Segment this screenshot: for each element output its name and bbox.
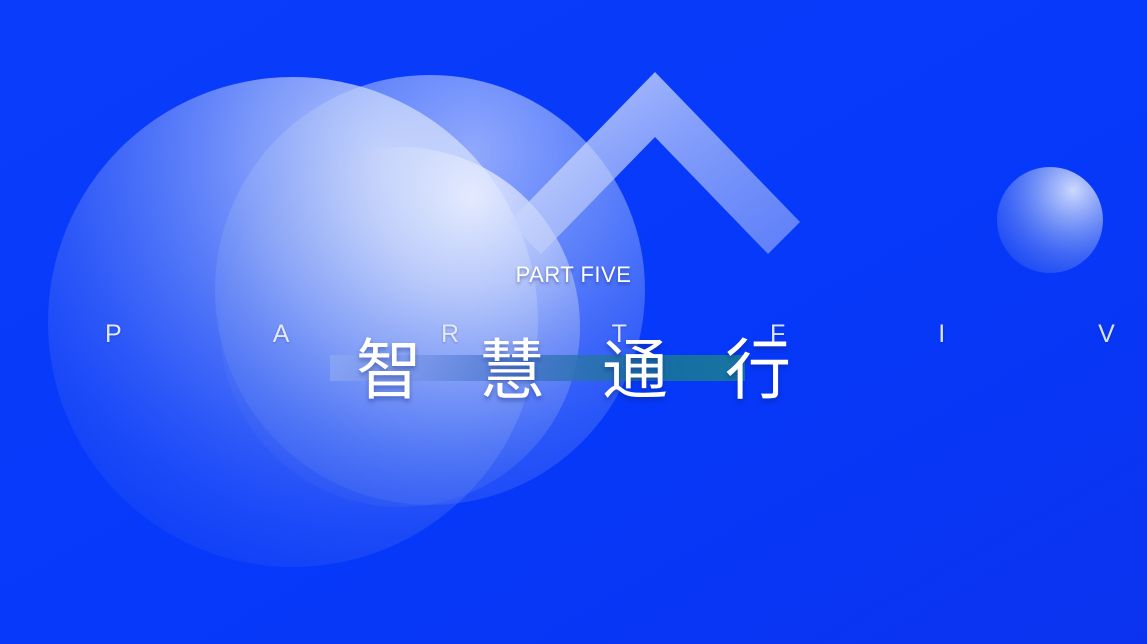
- presentation-slide: P A R T F I V E PART FIVE 智 慧 通 行: [0, 0, 1147, 644]
- section-title: 智 慧 通 行: [0, 336, 1147, 406]
- slide-text-layer: P A R T F I V E PART FIVE 智 慧 通 行: [0, 0, 1147, 644]
- section-kicker-label: PART FIVE: [0, 264, 1147, 286]
